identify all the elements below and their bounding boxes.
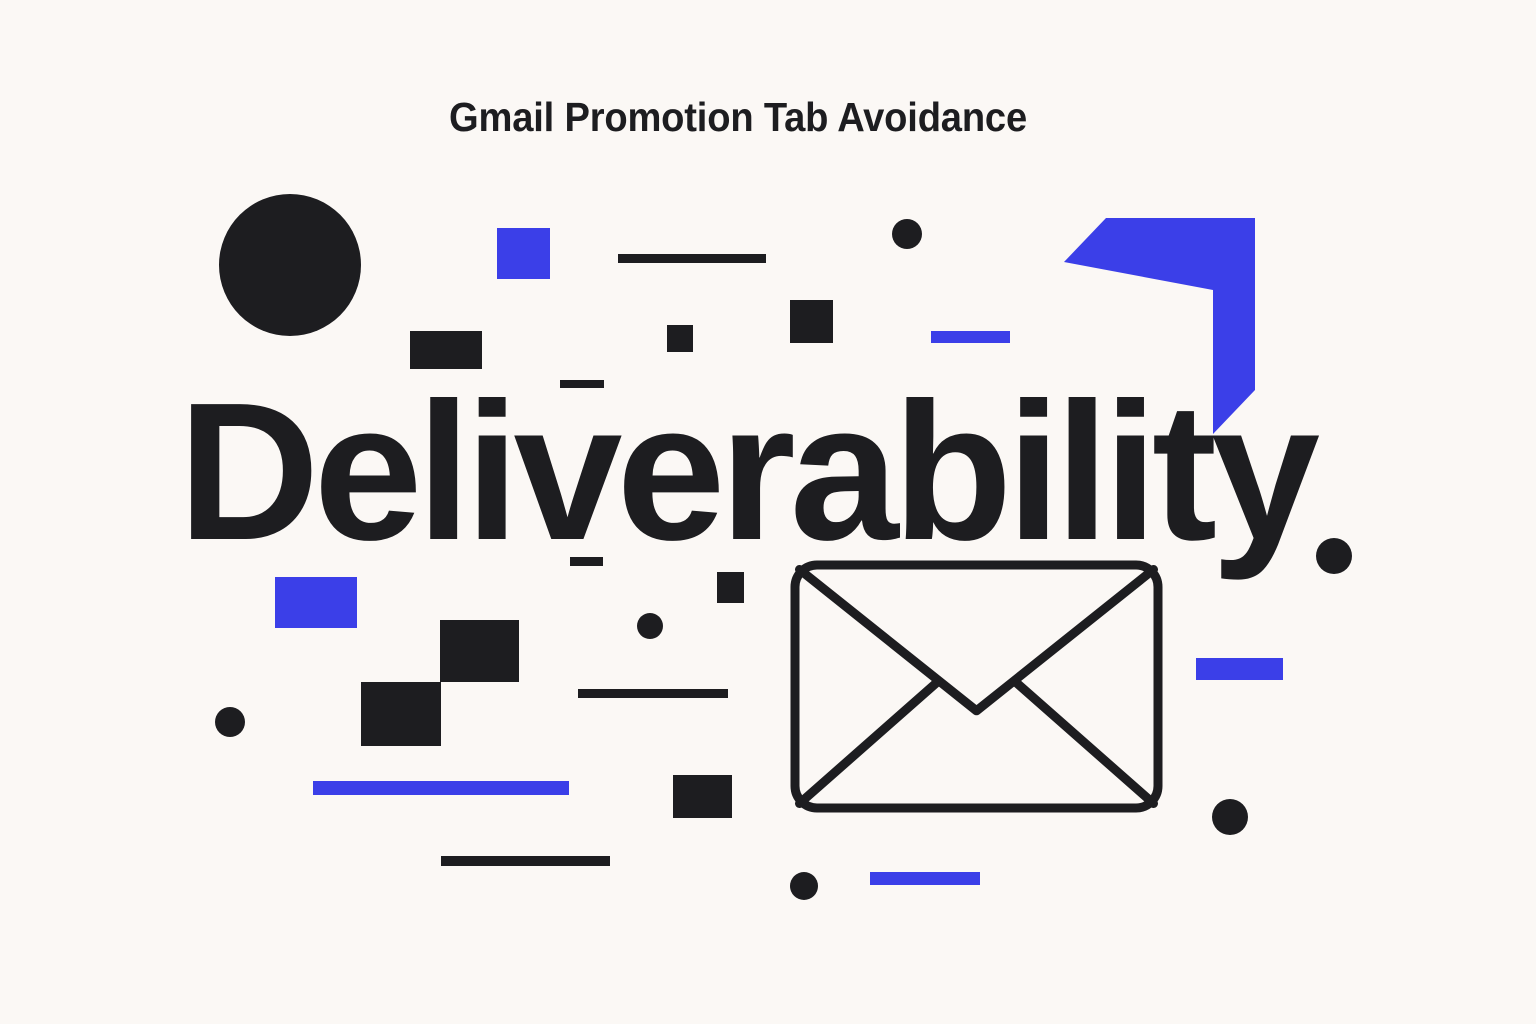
- poster-canvas: Gmail Promotion Tab Avoidance Deliverabi…: [0, 0, 1536, 1024]
- envelope-overlay: [0, 0, 1536, 1024]
- envelope-icon-layer: [795, 565, 1158, 808]
- envelope-body: [795, 565, 1158, 808]
